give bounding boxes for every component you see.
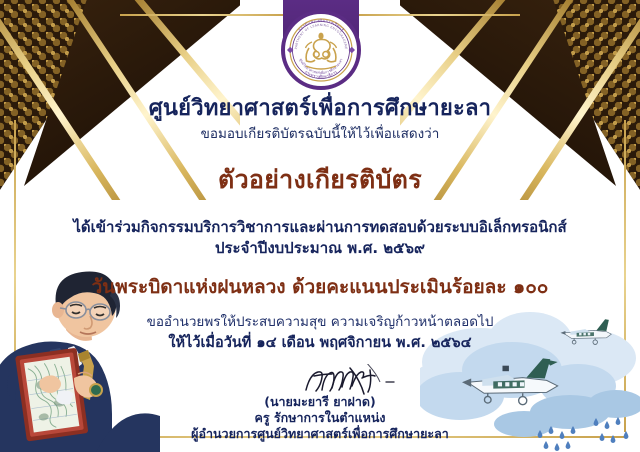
- body-line-1: ได้เข้าร่วมกิจกรรมบริการวิชาการและผ่านกา…: [0, 219, 640, 236]
- certificate-subtitle: ขอมอบเกียรติบัตรฉบับนี้ให้ไว้เพื่อแสดงว่…: [0, 127, 640, 143]
- organization-title: ศูนย์วิทยาศาสตร์เพื่อการศึกษายะลา: [0, 96, 640, 121]
- signer-position: ผู้อำนวยการศูนย์วิทยาศาสตร์เพื่อการศึกษา…: [0, 427, 640, 441]
- body-line-2: ประจำปีงบประมาณ พ.ศ. ๒๕๖๙: [0, 240, 640, 257]
- issue-date-line: ให้ไว้เมื่อวันที่ ๑๔ เดือน พฤศจิกายน พ.ศ…: [0, 335, 640, 352]
- handwritten-signature: [300, 364, 410, 398]
- certificate-page: สถาบันส่งเสริมการเรียนรู้ DEPARTMENT OF …: [0, 0, 640, 452]
- event-and-score-line: วันพระบิดาแห่งฝนหลวง ด้วยคะแนนประเมินร้อ…: [0, 277, 640, 299]
- recipient-name: ตัวอย่างเกียรติบัตร: [0, 166, 640, 195]
- wish-line: ขออำนวยพรให้ประสบความสุข ความเจริญก้าวหน…: [0, 315, 640, 331]
- signer-role: ครู รักษาการในตำแหน่ง: [0, 411, 640, 425]
